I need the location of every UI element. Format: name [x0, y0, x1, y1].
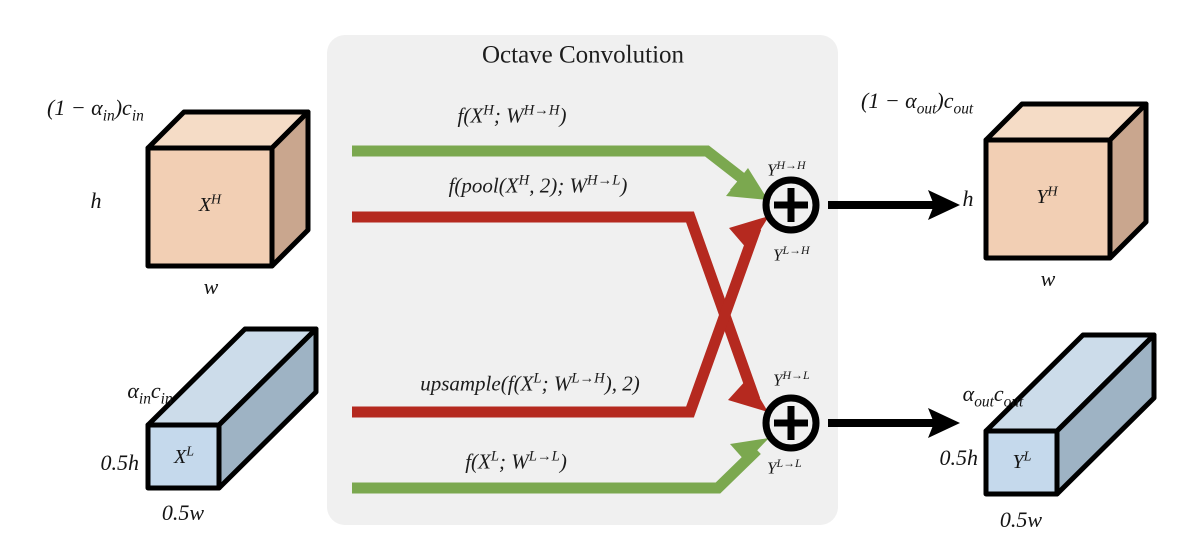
output-high-height-label: h [963, 188, 974, 210]
formula-low-to-high: upsample(f(XL; WL→H), 2) [420, 374, 640, 395]
octave-convolution-panel [327, 35, 838, 525]
label-y-low-to-high: YL→H [773, 247, 810, 264]
formula-high-to-high: f(XH; WH→H) [458, 106, 567, 127]
panel-title: Octave Convolution [482, 43, 684, 68]
input-high-width-label: w [204, 276, 219, 298]
output-low-channel-label: αoutcout [963, 383, 1024, 405]
output-low-name-label: YL [1013, 452, 1032, 472]
input-low-width-label: 0.5w [162, 502, 204, 524]
formula-high-to-low: f(pool(XH, 2); WH→L) [449, 176, 628, 197]
output-low-height-label: 0.5h [940, 447, 979, 469]
output-high-name-label: YH [1036, 187, 1057, 207]
output-high-channel-label: (1 − αout)cout [861, 90, 973, 112]
output-arrow-low [828, 408, 960, 438]
octave-convolution-figure [0, 0, 1194, 560]
input-high-channel-label: (1 − αin)cin [47, 97, 144, 119]
input-high-freq-cube [148, 112, 308, 266]
input-low-channel-label: αincin [127, 380, 172, 402]
input-high-name-label: XH [199, 195, 221, 215]
label-y-high-to-low: YH→L [773, 372, 810, 389]
output-arrow-high [828, 190, 960, 220]
output-high-freq-cube [986, 104, 1146, 258]
output-low-width-label: 0.5w [1000, 509, 1042, 531]
diagram-canvas: Octave Convolution (1 − αin)cin h w XH α… [0, 0, 1194, 560]
label-y-high-to-high: YH→H [767, 162, 806, 179]
input-high-height-label: h [91, 190, 102, 212]
input-low-height-label: 0.5h [101, 452, 140, 474]
adder-high [766, 180, 816, 230]
output-high-width-label: w [1041, 268, 1056, 290]
input-low-name-label: XL [174, 447, 194, 467]
label-y-low-to-low: YL→L [767, 460, 802, 477]
formula-low-to-low: f(XL; WL→L) [465, 452, 567, 473]
adder-low [766, 398, 816, 448]
output-low-freq-box [986, 335, 1154, 494]
